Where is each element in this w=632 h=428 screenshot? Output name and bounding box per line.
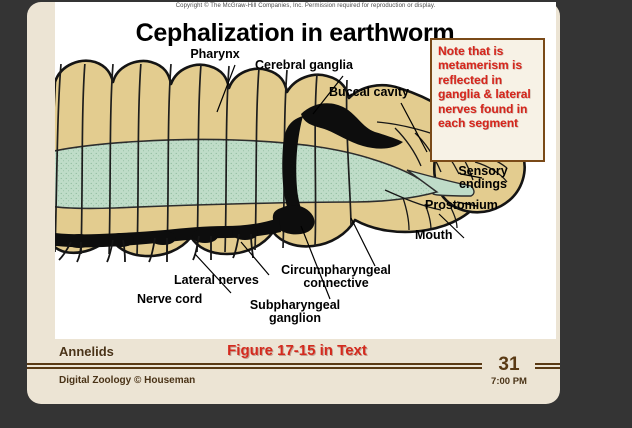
label-lateral-nerves: Lateral nerves (174, 274, 259, 287)
credit-line: Digital Zoology © Houseman (59, 375, 195, 386)
label-nerve-cord: Nerve cord (137, 293, 202, 306)
label-pharynx: Pharynx (180, 48, 250, 61)
note-callout-text: Note that is metamerism is reflected in … (438, 44, 538, 130)
label-buccal-cavity: Buccal cavity (319, 86, 419, 99)
presentation-slide: Copyright © The McGraw-Hill Companies, I… (27, 2, 560, 404)
screenshot-root: Copyright © The McGraw-Hill Companies, I… (0, 0, 632, 428)
section-label: Annelids (59, 344, 114, 359)
footer-rule-right (535, 363, 560, 369)
label-mouth: Mouth (415, 229, 452, 242)
label-circumpharyngeal-connective: Circumpharyngeal connective (270, 264, 402, 290)
label-cerebral-ganglia: Cerebral ganglia (249, 59, 359, 72)
note-callout-box: Note that is metamerism is reflected in … (430, 38, 545, 162)
page-number: 31 (485, 354, 533, 376)
footer-rule-left (27, 363, 482, 369)
label-prostomium: Prostomium (425, 199, 498, 212)
label-sensory-endings: Sensory endings (433, 165, 533, 191)
clock-time: 7:00 PM (477, 376, 541, 387)
label-subpharyngeal-ganglion: Subpharyngeal ganglion (231, 299, 359, 325)
figure-reference: Figure 17-15 in Text (177, 342, 417, 359)
